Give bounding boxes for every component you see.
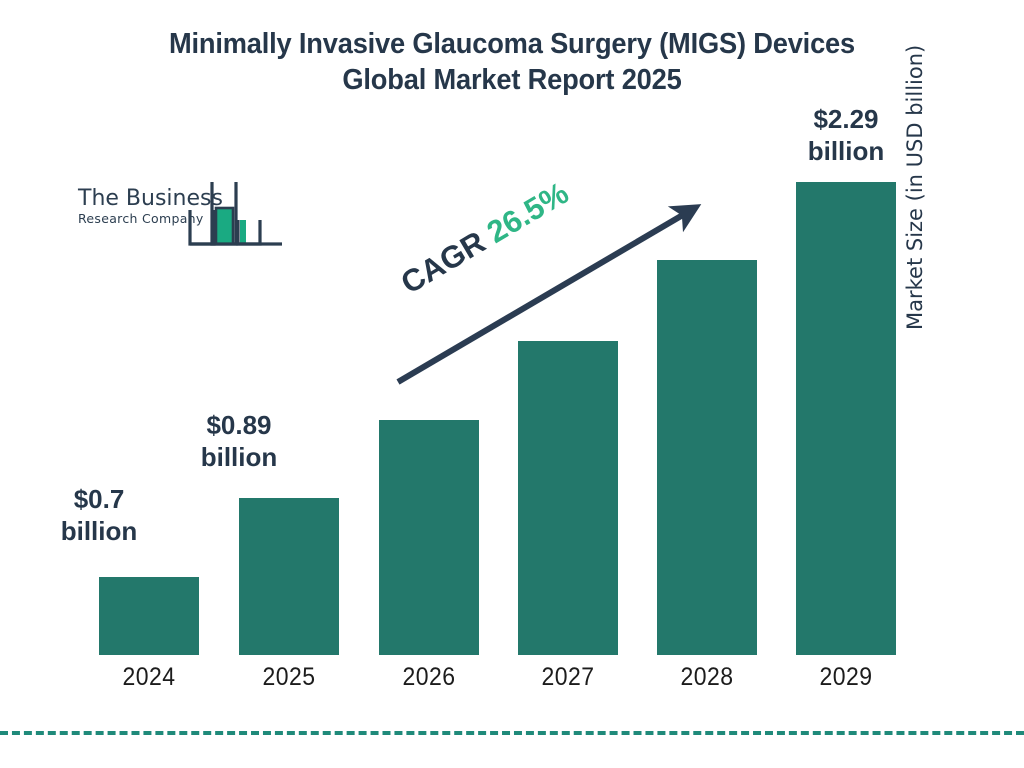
bar-value-label-2024-amount: $0.7 (49, 483, 149, 515)
y-axis-title: Market Size (in USD billion) (903, 0, 927, 330)
bar-value-label-2024-unit: billion (49, 515, 149, 547)
bar-2025 (239, 498, 339, 655)
bar-chart-plot-area: $0.7 billion 2024 $0.89 billion 2025 202… (0, 0, 1024, 768)
bar-value-label-2025: $0.89 billion (189, 409, 289, 473)
bar-value-label-2024: $0.7 billion (49, 483, 149, 547)
bar-value-label-2025-unit: billion (189, 441, 289, 473)
bar-2027 (518, 341, 618, 655)
x-tick-label-2028: 2028 (661, 662, 753, 692)
bar-2029 (796, 182, 896, 655)
bar-2026 (379, 420, 479, 655)
x-tick-label-2029: 2029 (800, 662, 892, 692)
bar-value-label-2029-amount: $2.29 (796, 103, 896, 135)
x-tick-label-2025: 2025 (243, 662, 335, 692)
bar-2028 (657, 260, 757, 655)
bar-value-label-2029-unit: billion (796, 135, 896, 167)
bar-value-label-2025-amount: $0.89 (189, 409, 289, 441)
bar-value-label-2029: $2.29 billion (796, 103, 896, 167)
x-tick-label-2024: 2024 (103, 662, 195, 692)
x-tick-label-2026: 2026 (383, 662, 475, 692)
x-tick-label-2027: 2027 (522, 662, 614, 692)
footer-divider (0, 731, 1024, 735)
bar-2024 (99, 577, 199, 655)
